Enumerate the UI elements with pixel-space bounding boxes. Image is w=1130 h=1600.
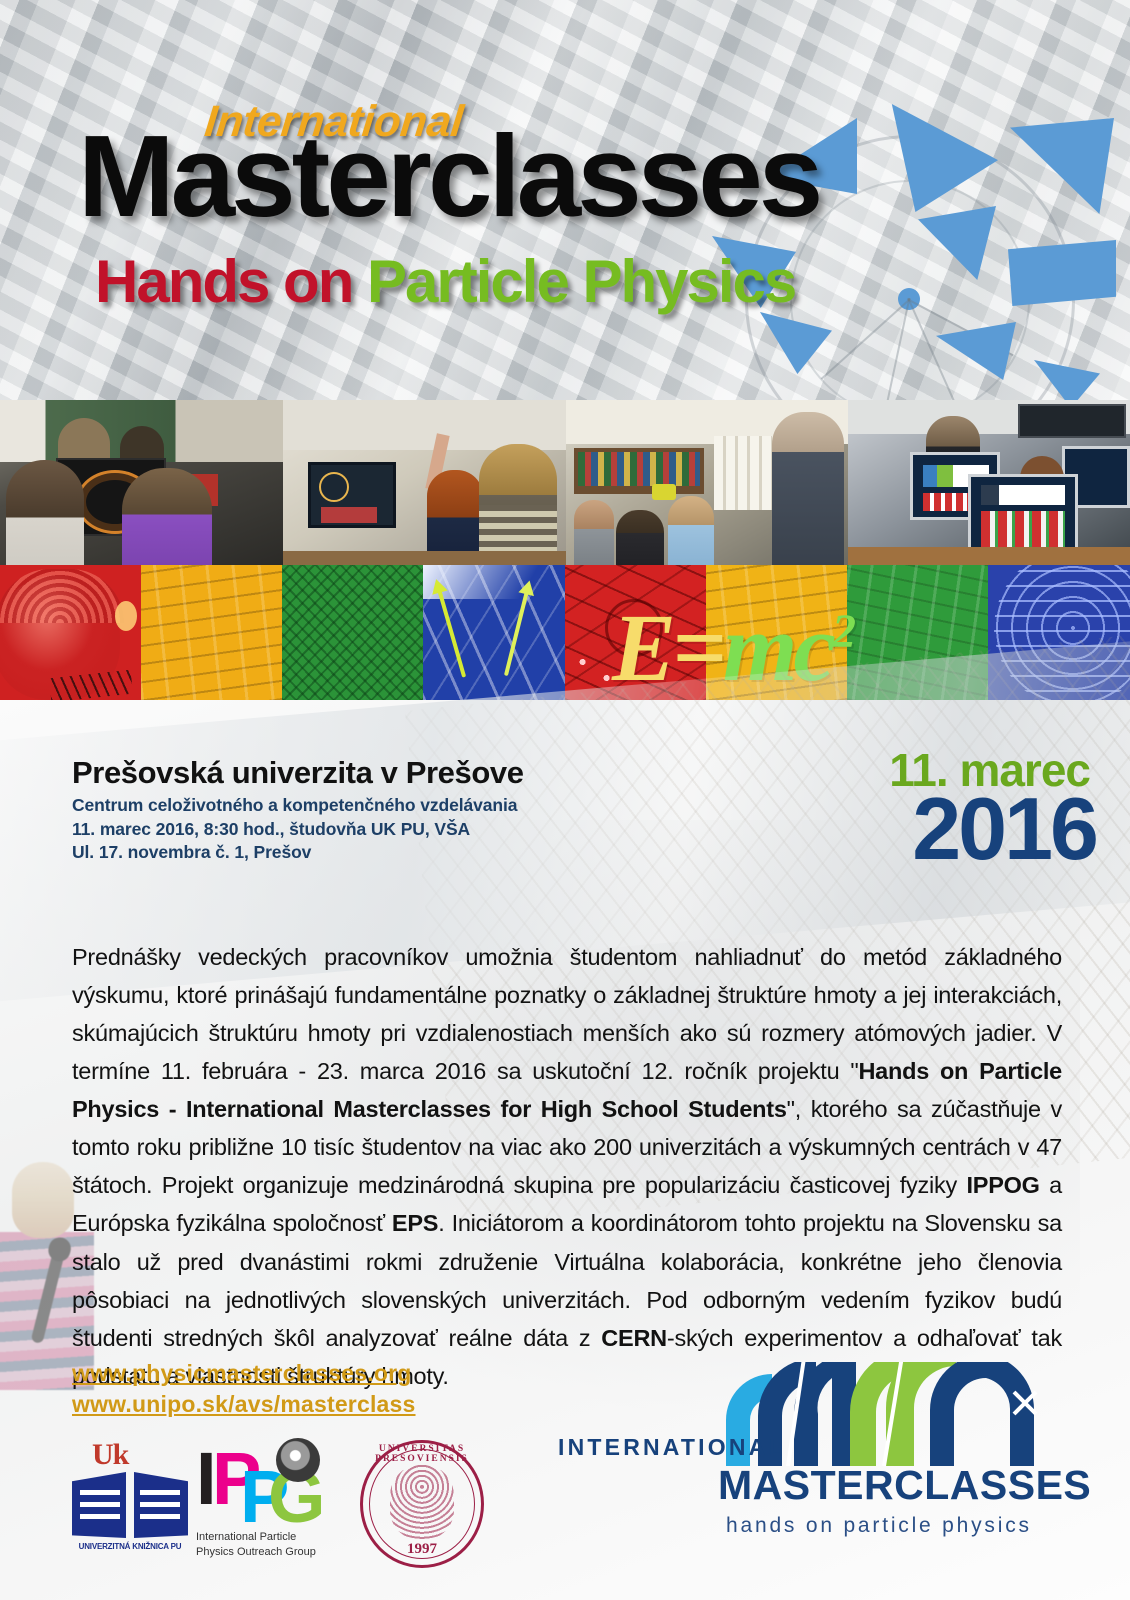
title-hands-on: Hands on: [95, 248, 367, 315]
venue-center-name: Centrum celoživotného a kompetenčného vz…: [72, 794, 692, 818]
open-book-icon: [72, 1472, 188, 1538]
collage-particle-tracks-blue: [423, 565, 565, 700]
desc-quote-close: ": [787, 1096, 795, 1122]
event-date-block: 11. marec 2016: [700, 748, 1100, 870]
link-physicmasterclasses[interactable]: www.physicmasterclasses.org: [72, 1358, 416, 1389]
event-date-year: 2016: [700, 789, 1100, 870]
ippog-caption-line2: Physics Outreach Group: [196, 1545, 346, 1560]
photo-event-display-monitors: [848, 400, 1130, 565]
uk-logo-caption: UNIVERZITNÁ KNIŽNICA PU: [70, 1542, 190, 1551]
ippog-caption-line1: International Particle: [196, 1530, 346, 1545]
desc-cern: CERN: [601, 1325, 667, 1351]
poster-canvas: International Masterclasses Hands on Par…: [0, 0, 1130, 1600]
partner-logos: Uk UNIVERZITNÁ KNIŽNICA PU I P P G Inter…: [70, 1432, 490, 1582]
title-masterclasses: Masterclasses: [78, 118, 819, 234]
link-unipo-masterclass[interactable]: www.unipo.sk/avs/masterclass: [72, 1389, 416, 1420]
uk-monogram: Uk: [92, 1438, 128, 1472]
photo-students-raising-hand: [283, 400, 566, 565]
ippog-sphere-icon: [276, 1438, 320, 1482]
imc-masterclasses-label: MASTERCLASSES: [718, 1462, 1091, 1509]
imc-international-label: INTERNATIONAL: [558, 1434, 786, 1461]
title-subtitle: Hands on Particle Physics: [95, 252, 795, 312]
poster-title-block: International Masterclasses Hands on Par…: [0, 0, 1130, 400]
photo-strip: [0, 400, 1130, 565]
desc-eps: EPS: [392, 1210, 438, 1236]
photo-students-at-monitor: [0, 400, 283, 565]
photo-library-lecture: [566, 400, 848, 565]
collage-einstein-portrait: [0, 565, 141, 700]
title-particle-physics: Particle Physics: [367, 248, 795, 315]
venue-university-name: Prešovská univerzita v Prešove: [72, 756, 692, 790]
logo-univerzitna-kniznica: Uk UNIVERZITNÁ KNIŽNICA PU: [70, 1438, 190, 1568]
collage-bubble-chamber-green: [282, 565, 423, 700]
imc-tagline: hands on particle physics: [726, 1514, 1032, 1538]
desc-ippog: IPPOG: [967, 1172, 1040, 1198]
logo-international-masterclasses: INTERNATIONAL MASTERCLASSES hands on par…: [548, 1362, 1088, 1562]
description-paragraph: Prednášky vedeckých pracovníkov umožnia …: [72, 938, 1062, 1395]
venue-datetime-room: 11. marec 2016, 8:30 hod., študovňa UK P…: [72, 818, 692, 842]
seal-portrait-icon: [390, 1464, 454, 1540]
venue-block: Prešovská univerzita v Prešove Centrum c…: [72, 756, 692, 865]
ippog-caption: International Particle Physics Outreach …: [196, 1530, 346, 1560]
logo-ippog: I P P G International Particle Physics O…: [196, 1434, 346, 1580]
logo-universitas-presoviensis: UNIVERSITAS PRESOVIENSIS 1997: [360, 1440, 484, 1568]
collage-manuscript-yellow: [141, 565, 282, 700]
venue-address: Ul. 17. novembra č. 1, Prešov: [72, 841, 692, 865]
seal-year: 1997: [360, 1541, 484, 1558]
website-links: www.physicmasterclasses.org www.unipo.sk…: [72, 1358, 416, 1420]
seal-top-text: UNIVERSITAS PRESOVIENSIS: [360, 1444, 484, 1464]
